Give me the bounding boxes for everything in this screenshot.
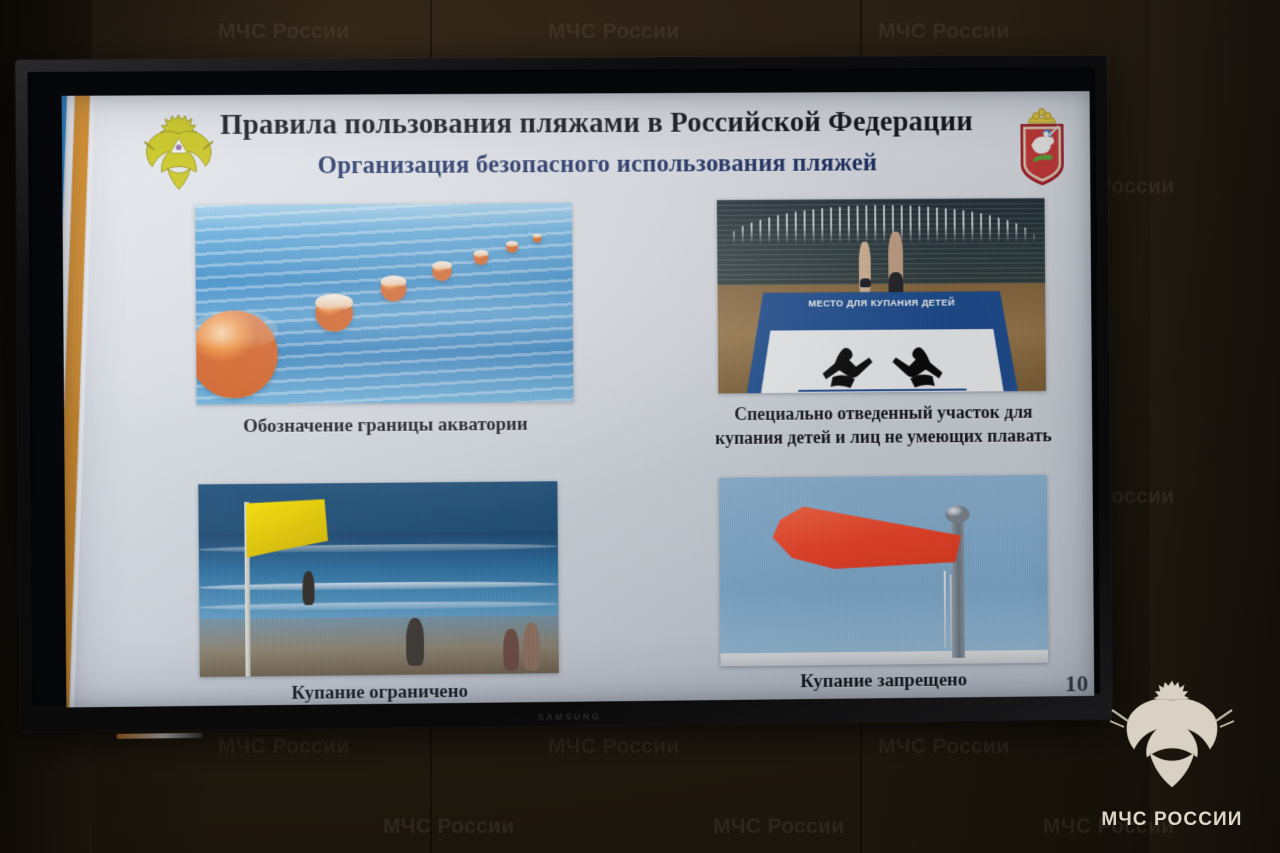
photo-person-wading [302,571,314,605]
slide-item-restricted: Купание ограничено [198,481,567,694]
pole-knob [945,505,970,523]
sign-text: МЕСТО ДЛЯ КУПАНИЯ ДЕТЕЙ [744,298,1019,311]
tv-indicator-light [117,733,203,739]
emercom-corner-logo: МЧС РОССИИ [1088,663,1256,831]
caption-children-area-line2: купания детей и лиц не умеющих плавать [707,425,1060,449]
caption-buoys: Обозначение границы акватории [179,413,592,439]
moscow-oblast-coat-of-arms-icon [1013,103,1070,188]
children-swimming-sign: МЕСТО ДЛЯ КУПАНИЯ ДЕТЕЙ [744,291,1020,394]
slide-item-forbidden: Купание запрещено [719,475,1054,686]
photo-children-swimming-area-sign: МЕСТО ДЛЯ КУПАНИЯ ДЕТЕЙ [717,198,1046,393]
slide-item-buoys: Обозначение границы акватории [195,203,573,410]
caption-restricted: Купание ограничено [196,680,563,706]
photo-person-child [503,629,519,671]
caption-children-area-line1: Специально отведенный участок для [717,402,1051,426]
presentation-slide: Правила пользования пляжами в Российской… [62,91,1095,707]
slide-item-children-area: МЕСТО ДЛЯ КУПАНИЯ ДЕТЕЙ [717,198,1052,408]
photo-orange-buoys-water-boundary [195,203,573,405]
photo-red-flag-sky [719,475,1048,666]
emercom-corner-logo-label: МЧС РОССИИ [1101,809,1242,831]
slide-page-number: 10 [1065,671,1089,698]
room-scene: МЧС России МЧС России МЧС России МЧС Рос… [0,0,1280,853]
photo-person-child [406,618,424,666]
slide-subtitle: Организация безопасного использования пл… [172,149,1021,181]
photo-person-adult [523,623,540,671]
photo-yellow-flag-beach [198,481,559,677]
caption-forbidden: Купание запрещено [717,669,1051,695]
television: SAMSUNG [15,55,1112,732]
slide-title: Правила пользования пляжами в Российской… [171,105,1020,142]
emercom-double-headed-eagle-icon [1102,677,1242,807]
slide-accent-ribbon [62,95,133,707]
